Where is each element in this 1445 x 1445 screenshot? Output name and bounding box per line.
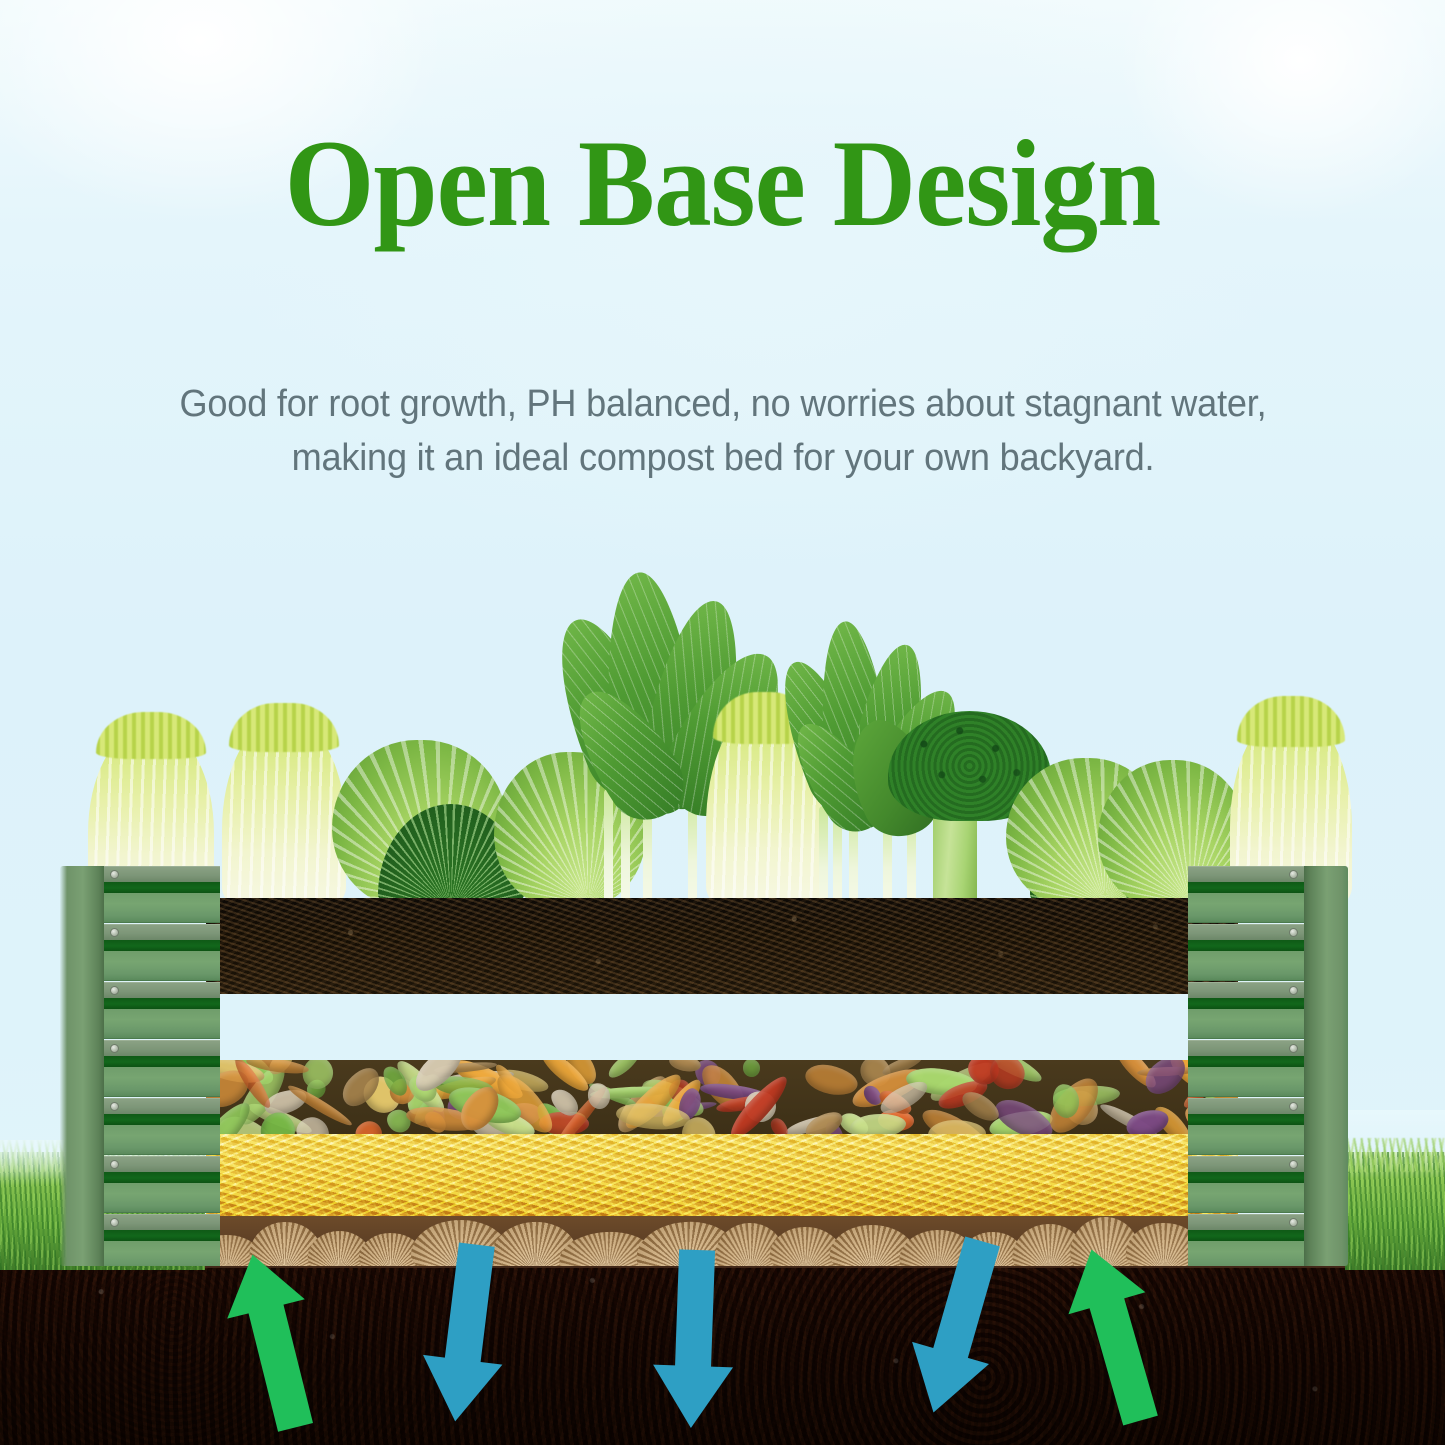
planter-panel-right [1188, 866, 1348, 1266]
slat-lip [1188, 1214, 1306, 1230]
slat-body [1188, 893, 1306, 923]
slat-body [1188, 1067, 1306, 1097]
slat-lip [1188, 1098, 1306, 1114]
screw-icon [1289, 1218, 1298, 1227]
screw-icon [1289, 870, 1298, 879]
corner-post-left [60, 866, 104, 1266]
slat-dark-band [1188, 1230, 1306, 1241]
chard-stem [604, 789, 613, 910]
slat-lip [1188, 1040, 1306, 1056]
compost-scrap [768, 1116, 791, 1134]
slat-body [102, 951, 220, 981]
layer-straw [206, 1134, 1238, 1216]
screw-icon [110, 928, 119, 937]
screw-icon [110, 986, 119, 995]
compost-scrap [802, 1060, 860, 1098]
slat-body [1188, 1125, 1306, 1155]
page-title: Open Base Design [51, 122, 1395, 246]
screw-icon [1289, 986, 1298, 995]
slat-body [102, 1183, 220, 1213]
slat-dark-band [1188, 998, 1306, 1009]
slat-lip [1188, 982, 1306, 998]
screw-icon [110, 1218, 119, 1227]
layer-compost-soil [206, 994, 1238, 1060]
layer-topsoil [206, 898, 1238, 994]
slat-dark-band [102, 1230, 220, 1241]
slat-dark-band [1188, 882, 1306, 893]
screw-icon [1289, 1044, 1298, 1053]
slat-dark-band [1188, 1056, 1306, 1067]
panel-slats-right [1188, 866, 1306, 1266]
slat-body [1188, 951, 1306, 981]
corner-post-right [1304, 866, 1348, 1266]
slat-lip [1188, 1156, 1306, 1172]
slat-dark-band [102, 1114, 220, 1125]
panel-slats-left [102, 866, 220, 1266]
grass-strip-right [1345, 1110, 1445, 1270]
slat-body [1188, 1183, 1306, 1213]
screw-icon [110, 1102, 119, 1111]
planter-panel-left [60, 866, 220, 1266]
slat-lip [102, 1156, 220, 1172]
napa-cabbage [222, 720, 346, 910]
slat-lip [102, 924, 220, 940]
slat-dark-band [102, 998, 220, 1009]
layer-kitchen-scraps [206, 1060, 1238, 1134]
slat-dark-band [1188, 1114, 1306, 1125]
compost-bed-cross-section [206, 898, 1238, 1266]
screw-icon [110, 1160, 119, 1169]
slat-lip [102, 982, 220, 998]
screw-icon [1289, 1160, 1298, 1169]
slat-lip [102, 1214, 220, 1230]
slat-dark-band [102, 882, 220, 893]
slat-dark-band [102, 940, 220, 951]
slat-body [1188, 1241, 1306, 1266]
slat-lip [102, 1040, 220, 1056]
page-subtitle: Good for root growth, PH balanced, no wo… [91, 378, 1355, 486]
screw-icon [110, 1044, 119, 1053]
slat-body [102, 893, 220, 923]
product-infographic: Open Base Design Good for root growth, P… [0, 0, 1445, 1445]
slat-body [102, 1241, 220, 1266]
screw-icon [1289, 928, 1298, 937]
slat-lip [102, 1098, 220, 1114]
vegetable-canopy [0, 600, 1445, 910]
slat-dark-band [1188, 940, 1306, 951]
compost-scrap [605, 1060, 643, 1081]
slat-dark-band [102, 1172, 220, 1183]
compost-scrap [351, 1116, 388, 1134]
slat-body [1188, 1009, 1306, 1039]
slat-lip [1188, 866, 1306, 882]
slat-dark-band [102, 1056, 220, 1067]
subtitle-line-1: Good for root growth, PH balanced, no wo… [91, 378, 1355, 432]
slat-body [102, 1067, 220, 1097]
water-drainage-arrow-icon [645, 1242, 744, 1435]
slat-dark-band [1188, 1172, 1306, 1183]
screw-icon [1289, 1102, 1298, 1111]
chard-stem [819, 806, 828, 910]
slat-lip [1188, 924, 1306, 940]
slat-lip [102, 866, 220, 882]
compost-scrap [743, 1060, 761, 1077]
slat-body [102, 1125, 220, 1155]
screw-icon [110, 870, 119, 879]
slat-body [102, 1009, 220, 1039]
subtitle-line-2: making it an ideal compost bed for your … [91, 432, 1355, 486]
